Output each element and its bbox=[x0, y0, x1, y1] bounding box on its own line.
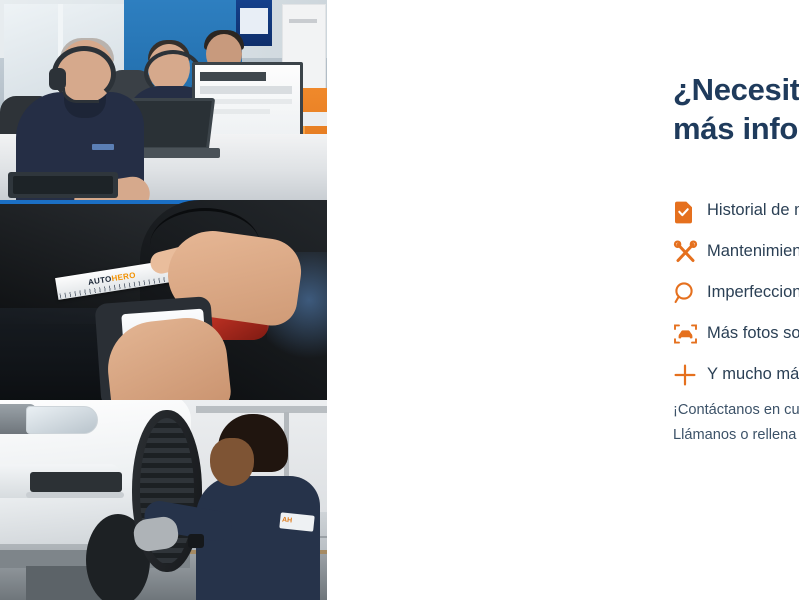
feature-list: Historial de mantenimientos Mantenimient… bbox=[673, 192, 799, 397]
feature-item-fotos: Más fotos sobre el coche bbox=[673, 315, 799, 353]
call-center-photo bbox=[0, 0, 327, 200]
feature-item-historial: Historial de mantenimientos bbox=[673, 192, 799, 230]
feature-label: Historial de mantenimientos bbox=[707, 201, 799, 221]
magnifier-icon bbox=[673, 281, 707, 305]
desk-tablet bbox=[8, 172, 118, 198]
feature-label: Más fotos sobre el coche bbox=[707, 324, 799, 344]
headline-line-1: ¿Necesitas bbox=[673, 70, 799, 109]
wall-shelf bbox=[196, 406, 327, 413]
document-check-icon bbox=[673, 199, 707, 224]
feature-item-mantenimiento: Mantenimiento realizado bbox=[673, 233, 799, 271]
car-frame-icon bbox=[673, 322, 707, 346]
workshop-photo: AH bbox=[0, 400, 327, 600]
car-headlight bbox=[26, 406, 98, 434]
contact-line-2: Llámanos o rellena el formulario de cont… bbox=[673, 423, 799, 448]
contact-line-1: ¡Contáctanos en cualquier momento para m… bbox=[673, 398, 799, 423]
technician: AH bbox=[196, 414, 320, 600]
content-panel: ¿Necesitas más información? Estamos enca… bbox=[327, 0, 799, 600]
feature-label: Mantenimiento realizado bbox=[707, 242, 799, 262]
page-title: ¿Necesitas más información? bbox=[673, 70, 799, 149]
crossed-tools-icon bbox=[673, 240, 707, 265]
bumper-vent bbox=[30, 472, 122, 492]
feature-label: Y mucho más bbox=[707, 365, 799, 385]
feature-item-mas: Y mucho más bbox=[673, 356, 799, 394]
feature-item-imperfecciones: Imperfecciones bbox=[673, 274, 799, 312]
inspection-photo: AUTOHERO bbox=[0, 200, 327, 400]
plus-icon bbox=[673, 363, 707, 387]
contact-text: ¡Contáctanos en cualquier momento para m… bbox=[673, 398, 799, 448]
chrome-trim bbox=[26, 492, 124, 498]
photo-column: AUTOHERO bbox=[0, 0, 327, 600]
feature-label: Imperfecciones bbox=[707, 283, 799, 303]
info-banner: AUTOHERO bbox=[0, 0, 799, 600]
headline-line-2: más información? bbox=[673, 109, 799, 148]
